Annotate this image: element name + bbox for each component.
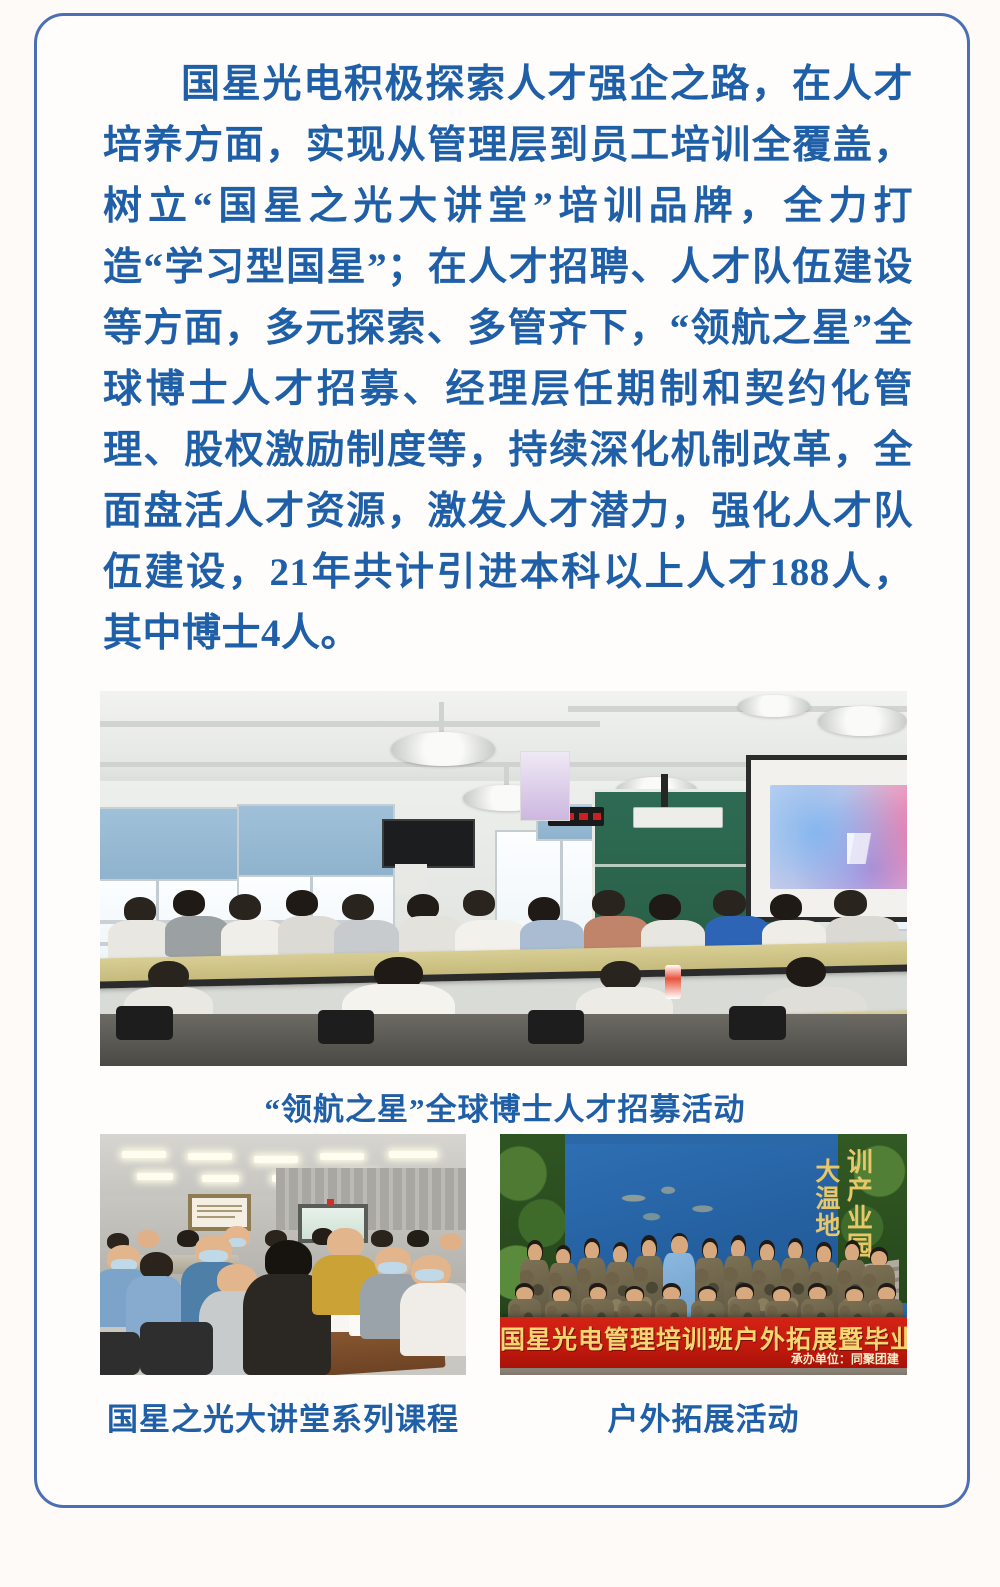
ceiling-fan [818, 706, 907, 736]
audience-head [173, 890, 205, 916]
ceiling-beam [100, 721, 600, 727]
page-root: 国星光电积极探索人才强企之路，在人才培养方面，实现从管理层到员工培训全覆盖，树立… [0, 0, 1000, 1587]
chair-back [729, 1006, 785, 1040]
audience-head [592, 890, 624, 916]
face-mask [378, 1262, 407, 1274]
participant-head [265, 1240, 313, 1279]
audience-head [713, 890, 745, 916]
lecture-hall-image [100, 691, 907, 1066]
fan-rod [504, 766, 509, 785]
audience-head [770, 894, 802, 920]
audience-head [229, 894, 261, 920]
article-body-text: 国星光电积极探索人才强企之路，在人才培养方面，实现从管理层到员工培训全覆盖，树立… [103, 54, 913, 664]
audience-head [649, 894, 681, 920]
office-chair [140, 1322, 213, 1375]
person-head [671, 1236, 687, 1255]
painting-line [197, 1205, 242, 1207]
office-chair [100, 1332, 140, 1375]
backdrop-text-left: 大温地 [812, 1158, 838, 1239]
caption-outdoor-team-building: 户外拓展活动 [500, 1394, 907, 1439]
participant-head [371, 1230, 393, 1247]
face-mask [199, 1250, 228, 1262]
audience-torso [165, 916, 230, 957]
ceiling-fan [391, 732, 496, 766]
ceiling-light [320, 1153, 364, 1160]
chair-back [116, 1006, 172, 1040]
audience-torso [108, 920, 173, 961]
wall-indicator [327, 1199, 334, 1206]
face-mask [415, 1269, 444, 1281]
banner-sub-text: 承办单位：同聚团建 [791, 1350, 899, 1367]
projector [633, 807, 724, 828]
wall-speaker [395, 864, 427, 894]
chair-back [318, 1010, 374, 1044]
audience-head [342, 894, 374, 920]
floor [100, 1014, 907, 1067]
participant-head [137, 1230, 159, 1247]
ceiling-light [254, 1156, 298, 1163]
poster [520, 751, 570, 821]
photo-recruitment-event [100, 691, 907, 1066]
photo-lecture-series [100, 1134, 466, 1375]
photo-outdoor-team-building: 训产业园 大温地 [500, 1134, 907, 1375]
outdoor-group-image: 训产业园 大温地 [500, 1134, 907, 1375]
backdrop-graffiti [606, 1177, 744, 1230]
audience-torso [278, 916, 343, 957]
content-card: 国星光电积极探索人才强企之路，在人才培养方面，实现从管理层到员工培训全覆盖，树立… [34, 13, 970, 1508]
fan-rod [439, 702, 444, 732]
chair-back [528, 1010, 584, 1044]
projector-mount [661, 774, 668, 808]
audience-head [786, 957, 826, 987]
participant-head [440, 1233, 462, 1250]
ceiling-light [122, 1151, 166, 1158]
participant-head [407, 1230, 429, 1247]
event-banner: 国星光电管理培训班户外拓展暨毕业活动 承办单位：同聚团建 [500, 1317, 907, 1368]
caption-lecture-series: 国星之光大讲堂系列课程 [100, 1394, 466, 1439]
window-blind [237, 804, 394, 879]
ceiling-light [188, 1153, 232, 1160]
participant-head [140, 1252, 173, 1279]
slide-title-text [847, 833, 907, 864]
wall-monitor [382, 819, 475, 868]
audience-head [463, 890, 495, 916]
participant-head [327, 1228, 364, 1257]
water-bottle [665, 965, 681, 999]
ceiling-light [137, 1173, 174, 1180]
participant-torso [400, 1283, 466, 1355]
ceiling-light [389, 1151, 437, 1158]
caption-recruitment-event: “领航之星”全球博士人才招募活动 [37, 1084, 973, 1129]
window-blind [100, 807, 241, 882]
training-room-image [100, 1134, 466, 1375]
audience-head [834, 890, 866, 916]
ceiling-fan [738, 695, 811, 718]
ceiling-light [202, 1175, 239, 1182]
projection-screen [746, 755, 907, 923]
painting-line [197, 1210, 242, 1212]
painting-line [197, 1216, 235, 1218]
audience-head [286, 890, 318, 916]
slide-content [770, 785, 907, 889]
